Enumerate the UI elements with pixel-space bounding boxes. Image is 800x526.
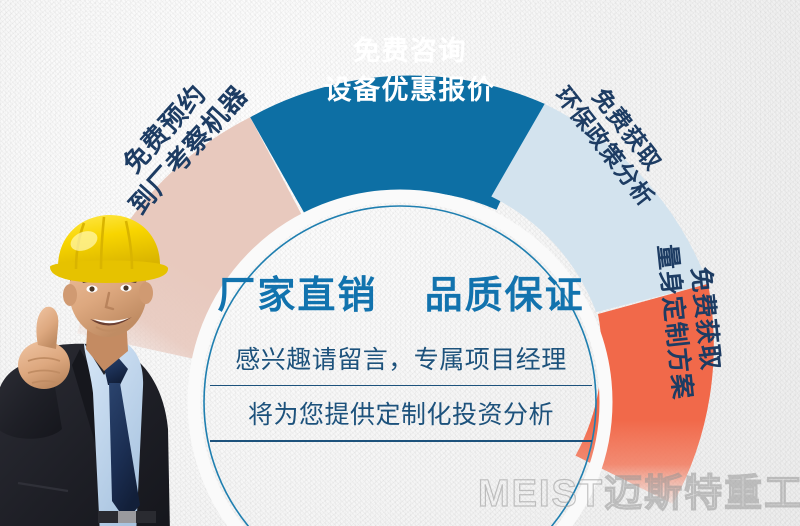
sub-line-2: 将为您提供定制化投资分析 [206, 395, 596, 431]
promo-banner: 免费预约 到厂考察机器 免费咨询 设备优惠报价 免费获取 环保政策分析 免费获取… [0, 0, 800, 526]
divider-rule-bottom [210, 440, 592, 442]
sub-line-1: 感兴趣请留言，专属项目经理 [206, 340, 596, 376]
businessman-photo [0, 215, 222, 526]
divider-rule-top [210, 385, 592, 387]
headline: 厂家直销 品质保证 [206, 276, 596, 318]
segment-label-blue-line1: 免费咨询 [310, 32, 510, 71]
center-message-block: 厂家直销 品质保证 感兴趣请留言，专属项目经理 将为您提供定制化投资分析 [206, 276, 596, 451]
hard-hat [50, 215, 168, 283]
headline-right: 品质保证 [425, 275, 585, 317]
headline-left: 厂家直销 [217, 275, 377, 317]
thumbs-up-hand [0, 307, 70, 439]
segment-label-blue: 免费咨询 设备优惠报价 [310, 32, 510, 110]
watermark-logo: MEIST迈斯特重工 [478, 462, 800, 517]
belt [98, 511, 156, 523]
segment-label-blue-line2: 设备优惠报价 [310, 71, 510, 110]
